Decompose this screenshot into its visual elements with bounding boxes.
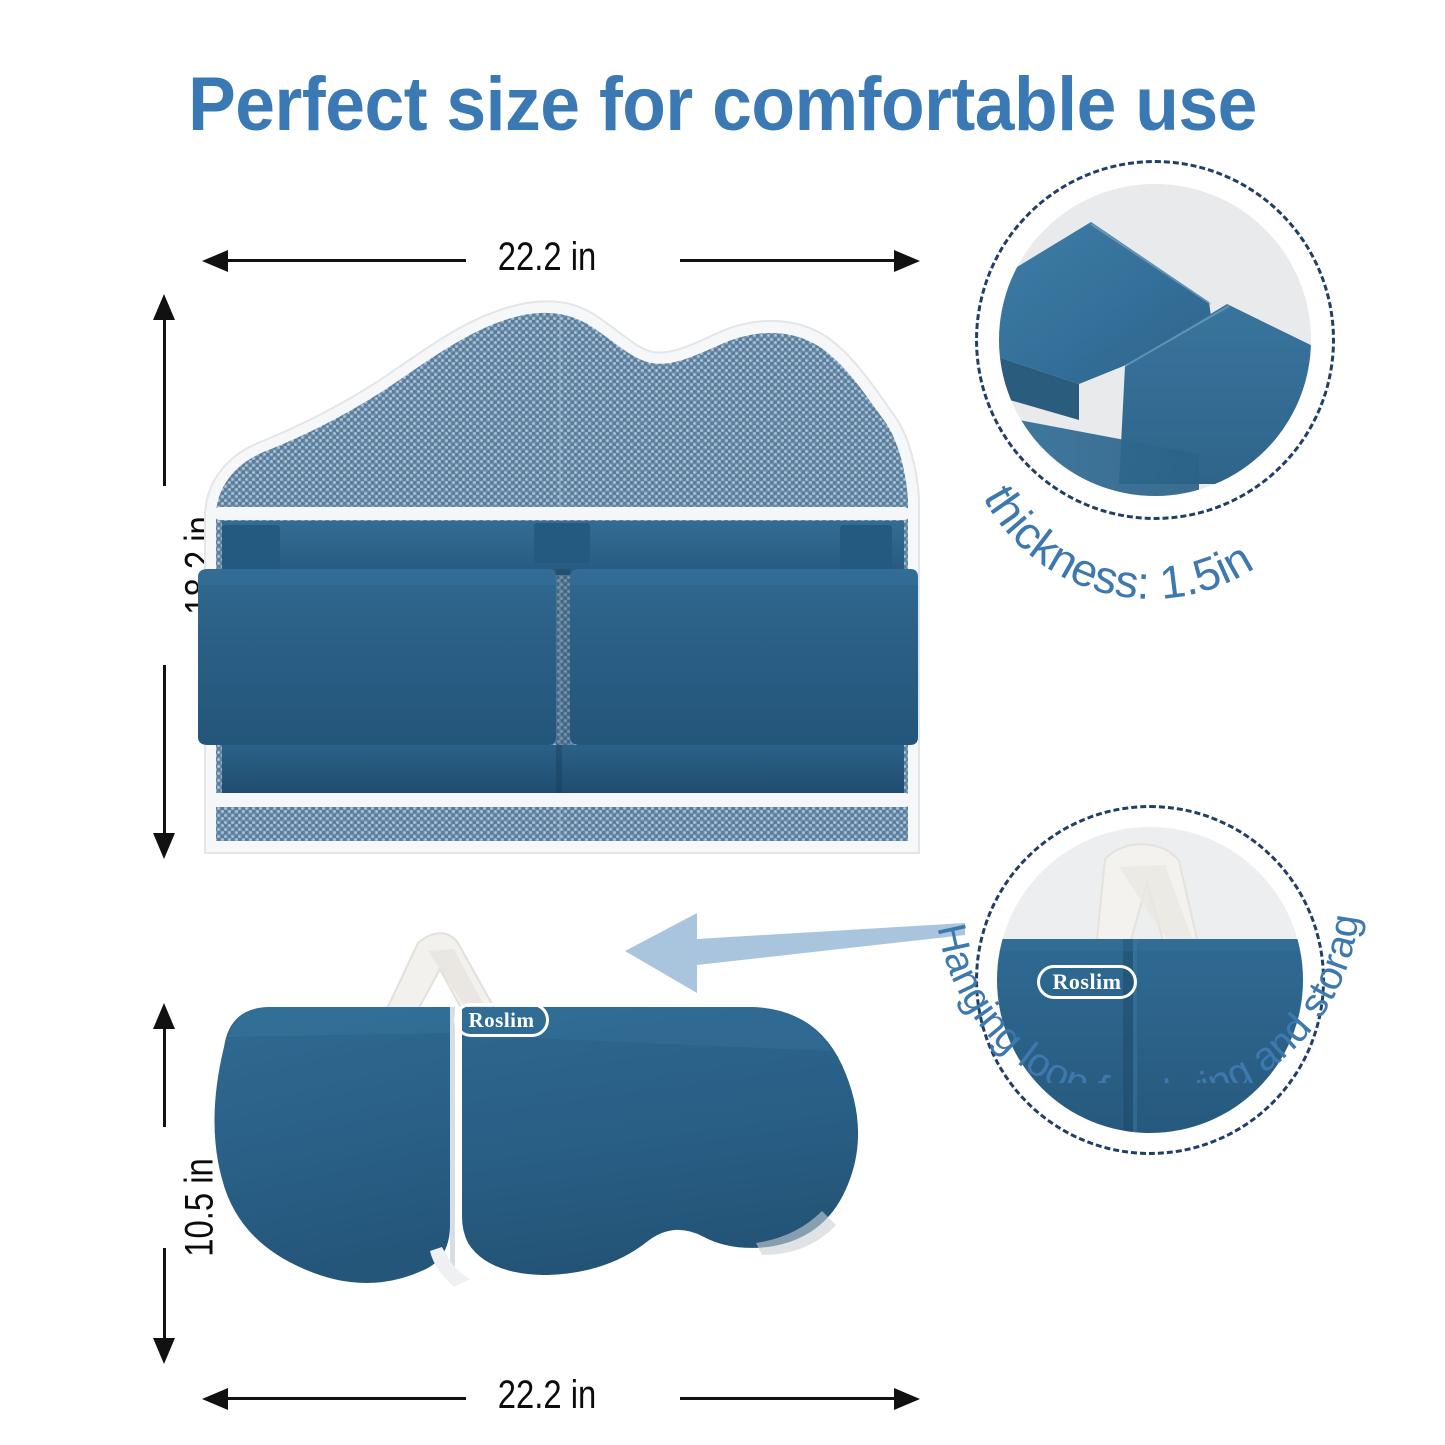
callout-hanging-loop: Roslim Hanging loop for drying and stora… (975, 805, 1325, 1155)
dimension-line-right (680, 1397, 899, 1400)
velcro-tab-right (840, 525, 892, 573)
callout-thickness: thickness: 1.5in thickness: 1.5in (975, 160, 1335, 520)
velcro-tab-left (222, 525, 280, 573)
brand-badge-label: Roslim (469, 1008, 535, 1033)
cushion-block-right (570, 569, 918, 745)
pad-binding-strip-upper (214, 507, 910, 520)
dimension-line-bottom (163, 665, 166, 835)
cushion-gap-shadow (556, 569, 570, 745)
infographic-page: Perfect size for comfortable use 22.2 in… (0, 0, 1445, 1445)
arrow-up-icon (153, 1003, 175, 1029)
fold-gap-shadow (450, 1007, 455, 1271)
arrow-left-icon (202, 250, 228, 272)
folded-pad-left (214, 1007, 450, 1283)
arrow-right-icon (894, 250, 920, 272)
brand-badge-closeup-label: Roslim (1053, 969, 1122, 995)
bottom-width-label: 22.2 in (498, 1373, 596, 1418)
cushion-right-highlight (570, 569, 918, 585)
pad-top-edge (997, 939, 1303, 951)
dimension-line-left (226, 259, 466, 262)
arrow-up-icon (153, 294, 175, 320)
arrow-right-icon (894, 1388, 920, 1410)
thickness-photo-disc (999, 184, 1311, 496)
velcro-tab-center (534, 523, 590, 563)
pointer-arrow (625, 905, 965, 1015)
arrow-left-icon (202, 1388, 228, 1410)
arrow-down-icon (153, 833, 175, 859)
dimension-line-top (163, 1027, 166, 1127)
top-width-label: 22.2 in (498, 235, 596, 280)
cushion-block-left (198, 569, 556, 745)
cushion-left-highlight (198, 569, 556, 585)
cushion-lower-seam (556, 745, 562, 795)
cushion-band-lower (222, 745, 904, 795)
page-title: Perfect size for comfortable use (43, 62, 1401, 148)
arrow-down-icon (153, 1338, 175, 1364)
pad-fold-highlight (1133, 939, 1137, 1133)
dimension-line-left (226, 1397, 466, 1400)
brand-badge: Roslim (454, 1003, 549, 1037)
dimension-line-right (680, 259, 899, 262)
brand-badge-closeup: Roslim (1037, 965, 1137, 999)
folded-pad-left-highlight (228, 1007, 450, 1037)
dimension-line-top (163, 318, 166, 486)
pointer-arrow-icon (625, 913, 965, 993)
product-photo-unfolded (196, 285, 926, 865)
pad-binding-strip-lower (210, 793, 912, 807)
dimension-line-bottom (163, 1248, 166, 1340)
